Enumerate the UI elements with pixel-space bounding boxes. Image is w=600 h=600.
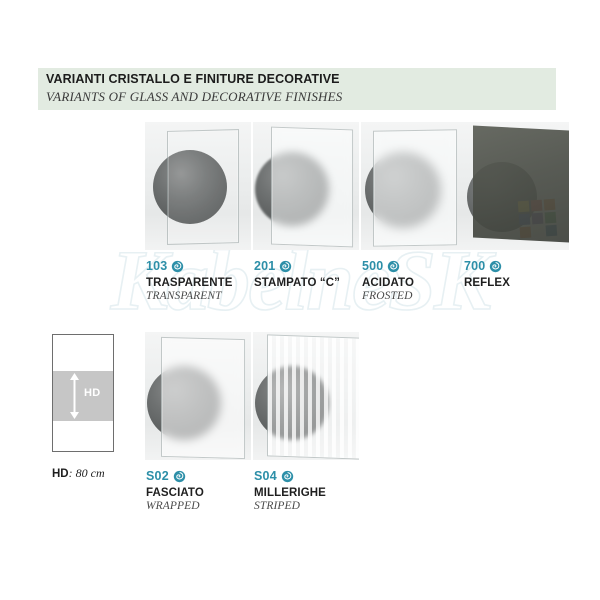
sample-code: S02 (146, 469, 169, 483)
sample-name: TRASPARENTE (146, 277, 266, 289)
glass-pane (267, 334, 359, 459)
reflective-glass-pane (473, 125, 569, 242)
sample-caption-fasciato: S02 FASCIATO WRAPPED (146, 468, 266, 512)
sample-name-alt: TRANSPARENT (146, 290, 266, 302)
sample-caption-stampato-c: 201 STAMPATO “C” (254, 258, 374, 290)
droplet-swirl-icon (281, 470, 294, 483)
sample-code: 500 (362, 259, 383, 273)
sample-code-row: S04 (254, 468, 374, 484)
sample-code: S04 (254, 469, 277, 483)
sample-image-trasparente (145, 122, 251, 250)
glass-pane (167, 129, 239, 245)
sample-code-row: 103 (146, 258, 266, 274)
glass-pane (271, 127, 353, 248)
sample-name-alt: WRAPPED (146, 500, 266, 512)
sample-image-fasciato (145, 332, 251, 460)
sample-name: FASCIATO (146, 487, 266, 499)
sample-caption-millerighe: S04 MILLERIGHE STRIPED (254, 468, 374, 512)
sample-name-alt: STRIPED (254, 500, 374, 512)
droplet-swirl-icon (387, 260, 400, 273)
sample-caption-trasparente: 103 TRASPARENTE TRANSPARENT (146, 258, 266, 302)
sample-image-millerighe (253, 332, 359, 460)
hd-caption-value: : 80 cm (69, 466, 105, 480)
sample-code: 103 (146, 259, 167, 273)
sample-code: 201 (254, 259, 275, 273)
glass-pane (373, 129, 457, 246)
vertical-stripes-pattern (268, 335, 359, 458)
sample-name: STAMPATO “C” (254, 277, 374, 289)
sample-code-row: 700 (464, 258, 584, 274)
hd-band-label: HD (84, 387, 101, 399)
sample-name: REFLEX (464, 277, 584, 289)
hd-caption: HD: 80 cm (52, 466, 105, 481)
hd-door-diagram: HD (52, 334, 114, 452)
hd-band (53, 371, 113, 421)
sample-caption-reflex: 700 REFLEX (464, 258, 584, 290)
sample-code-row: 201 (254, 258, 374, 274)
hd-double-arrow-icon (69, 373, 80, 419)
sample-image-acidato (361, 122, 467, 250)
hd-caption-key: HD (52, 468, 69, 480)
glass-pane (161, 337, 245, 459)
sample-name: MILLERIGHE (254, 487, 374, 499)
sample-code: 700 (464, 259, 485, 273)
droplet-swirl-icon (489, 260, 502, 273)
sample-image-stampato-c (253, 122, 359, 250)
droplet-swirl-icon (171, 260, 184, 273)
sample-name-alt: FROSTED (362, 290, 482, 302)
sample-image-reflex (463, 122, 569, 250)
droplet-swirl-icon (279, 260, 292, 273)
sample-code-row: S02 (146, 468, 266, 484)
droplet-swirl-icon (173, 470, 186, 483)
